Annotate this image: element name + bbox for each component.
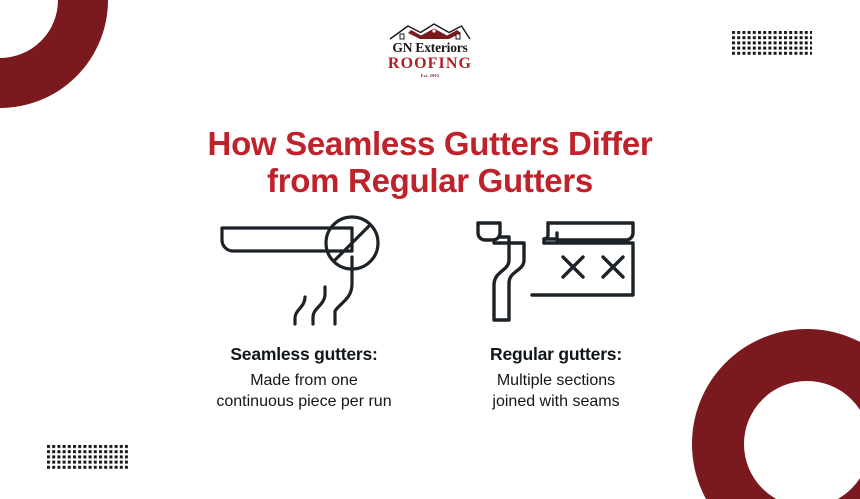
dot-grid-bottom-left-icon	[47, 445, 128, 469]
page-title: How Seamless Gutters Differ from Regular…	[0, 126, 860, 200]
panel-body-regular: Multiple sections joined with seams	[492, 370, 619, 412]
seamless-gutter-icon-box	[209, 210, 399, 330]
page-title-line-1: How Seamless Gutters Differ	[0, 126, 860, 163]
panel-body-seamless-line-1: Made from one	[216, 370, 391, 391]
page-title-line-2: from Regular Gutters	[0, 163, 860, 200]
panel-body-regular-line-2: joined with seams	[492, 391, 619, 412]
brand-logo: GN Exteriors ROOFING Est. 2002	[0, 22, 860, 78]
sectional-gutter-icon-box	[469, 210, 644, 330]
comparison-panels: Seamless gutters: Made from one continuo…	[0, 210, 860, 412]
logo-service-name: ROOFING	[388, 56, 472, 72]
panel-body-seamless-line-2: continuous piece per run	[216, 391, 391, 412]
panel-heading-regular: Regular gutters:	[490, 344, 622, 365]
infographic-canvas: GN Exteriors ROOFING Est. 2002 How Seaml…	[0, 0, 860, 499]
panel-regular-gutters: Regular gutters: Multiple sections joine…	[431, 210, 681, 412]
panel-seamless-gutters: Seamless gutters: Made from one continuo…	[179, 210, 429, 412]
seamless-gutter-icon	[209, 211, 399, 329]
logo-established-text: Est. 2002	[421, 74, 439, 78]
roof-house-icon	[387, 22, 473, 40]
sectional-gutter-seams-icon	[469, 215, 644, 325]
panel-heading-seamless: Seamless gutters:	[230, 344, 377, 365]
panel-body-regular-line-1: Multiple sections	[492, 370, 619, 391]
logo-company-name: GN Exteriors	[392, 41, 467, 55]
panel-body-seamless: Made from one continuous piece per run	[216, 370, 391, 412]
